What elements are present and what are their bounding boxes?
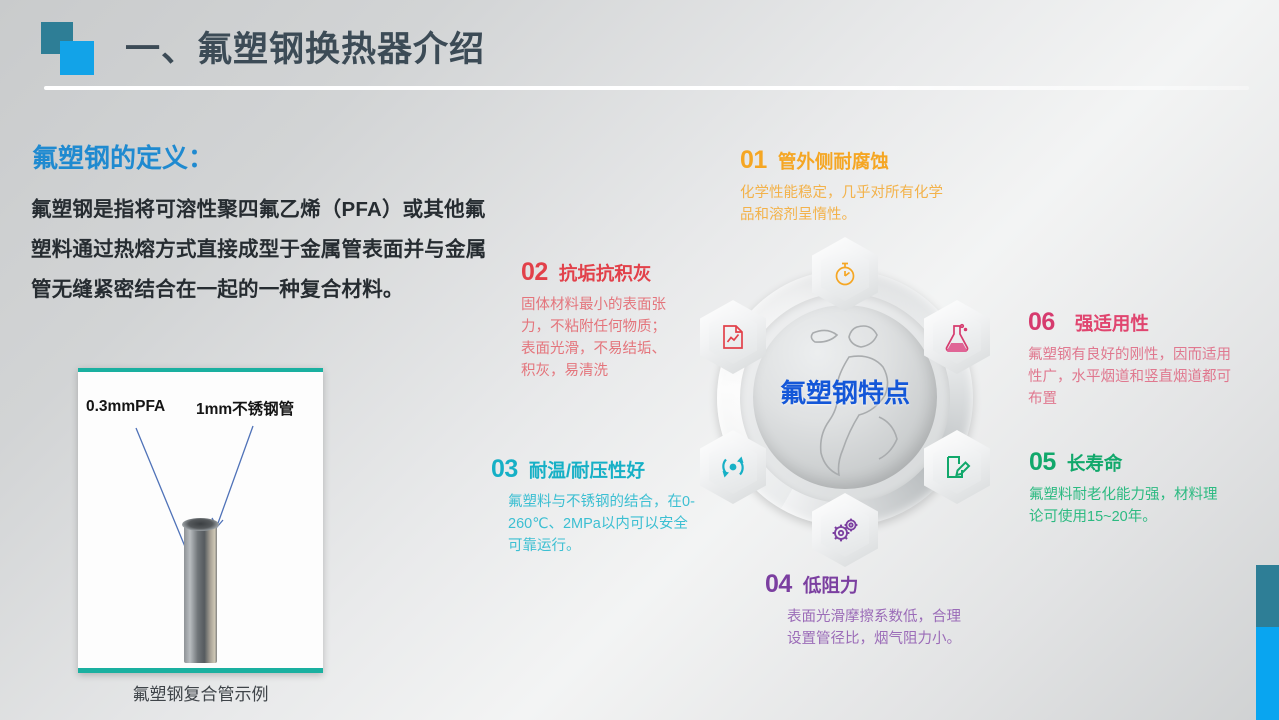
feature-title: 耐温/耐压性好 (529, 457, 645, 483)
feature-number: 04 (765, 570, 792, 599)
feature-number: 02 (521, 258, 548, 287)
feature-body: 固体材料最小的表面张力，不粘附任何物质；表面光滑，不易结垢、积灰，易清洗 (521, 294, 673, 382)
photo-bottom-rule (78, 668, 323, 673)
feature-header: 06 强适用性 (1028, 308, 1243, 337)
globe-graphic: 氟塑钢特点 (753, 305, 937, 489)
feature-header: 03 耐温/耐压性好 (491, 455, 701, 484)
feature-title: 强适用性 (1075, 310, 1149, 336)
feature-title: 长寿命 (1067, 450, 1123, 476)
feature-05: 05 长寿命 氟塑料耐老化能力强，材料理论可使用15~20年。 (1029, 448, 1229, 528)
feature-number: 05 (1029, 448, 1056, 477)
feature-header: 02 抗垢抗积灰 (521, 258, 673, 287)
page-title: 一、氟塑钢换热器介绍 (125, 21, 485, 72)
composite-tube-body (184, 523, 217, 663)
photo-caption: 氟塑钢复合管示例 (78, 680, 323, 705)
flask-icon (943, 322, 971, 352)
header-divider (44, 86, 1249, 90)
feature-title: 抗垢抗积灰 (559, 260, 652, 286)
feature-03: 03 耐温/耐压性好 氟塑料与不锈钢的结合，在0-260℃、2MPa以内可以安全… (491, 455, 701, 557)
hex-inner (709, 440, 757, 494)
feature-02: 02 抗垢抗积灰 固体材料最小的表面张力，不粘附任何物质；表面光滑，不易结垢、积… (521, 258, 673, 382)
feature-number: 06 (1028, 308, 1055, 337)
feature-06: 06 强适用性 氟塑钢有良好的刚性，因而适用性广，水平烟道和竖直烟道都可布置 (1028, 308, 1243, 410)
pencil-document-icon (943, 453, 971, 481)
hex-inner (933, 310, 981, 364)
stopwatch-icon (831, 260, 859, 288)
hex-inner (821, 503, 869, 557)
slide-canvas: 一、氟塑钢换热器介绍 氟塑钢的定义： 氟塑钢是指将可溶性聚四氟乙烯（PFA）或其… (0, 0, 1279, 720)
chart-document-icon (720, 323, 746, 351)
definition-body: 氟塑钢是指将可溶性聚四氟乙烯（PFA）或其他氟塑料通过热熔方式直接成型于金属管表… (31, 190, 491, 310)
feature-04: 04 低阻力 表面光滑摩擦系数低，合理设置管径比，烟气阻力小。 (765, 570, 965, 650)
sample-photo: 0.3mmPFA 1mm不锈钢管 (78, 368, 323, 673)
hex-inner (933, 440, 981, 494)
feature-01: 01 管外侧耐腐蚀 化学性能稳定，几乎对所有化学品和溶剂呈惰性。 (740, 146, 955, 226)
feature-number: 01 (740, 146, 767, 175)
feature-number: 03 (491, 455, 518, 484)
feature-header: 01 管外侧耐腐蚀 (740, 146, 955, 175)
wheel-center-label: 氟塑钢特点 (753, 373, 937, 410)
recycle-arrows-icon (718, 452, 748, 482)
header-square-blue (60, 41, 94, 75)
corner-accent-bottom (1256, 627, 1279, 720)
feature-body: 氟塑料耐老化能力强，材料理论可使用15~20年。 (1029, 484, 1229, 528)
feature-body: 化学性能稳定，几乎对所有化学品和溶剂呈惰性。 (740, 182, 955, 226)
hex-inner (709, 310, 757, 364)
feature-title: 管外侧耐腐蚀 (778, 148, 889, 174)
feature-body: 氟塑料与不锈钢的结合，在0-260℃、2MPa以内可以安全可靠运行。 (491, 491, 701, 557)
feature-body: 表面光滑摩擦系数低，合理设置管径比，烟气阻力小。 (765, 606, 965, 650)
composite-tube-opening (182, 518, 219, 531)
feature-wheel: 氟塑钢特点 (695, 245, 995, 555)
definition-title: 氟塑钢的定义： (32, 138, 214, 175)
feature-body: 氟塑钢有良好的刚性，因而适用性广，水平烟道和竖直烟道都可布置 (1028, 344, 1243, 410)
feature-header: 05 长寿命 (1029, 448, 1229, 477)
hex-inner (821, 247, 869, 301)
gears-icon (830, 516, 860, 544)
corner-accent-top (1256, 565, 1279, 627)
feature-title: 低阻力 (803, 572, 859, 598)
feature-header: 04 低阻力 (765, 570, 965, 599)
